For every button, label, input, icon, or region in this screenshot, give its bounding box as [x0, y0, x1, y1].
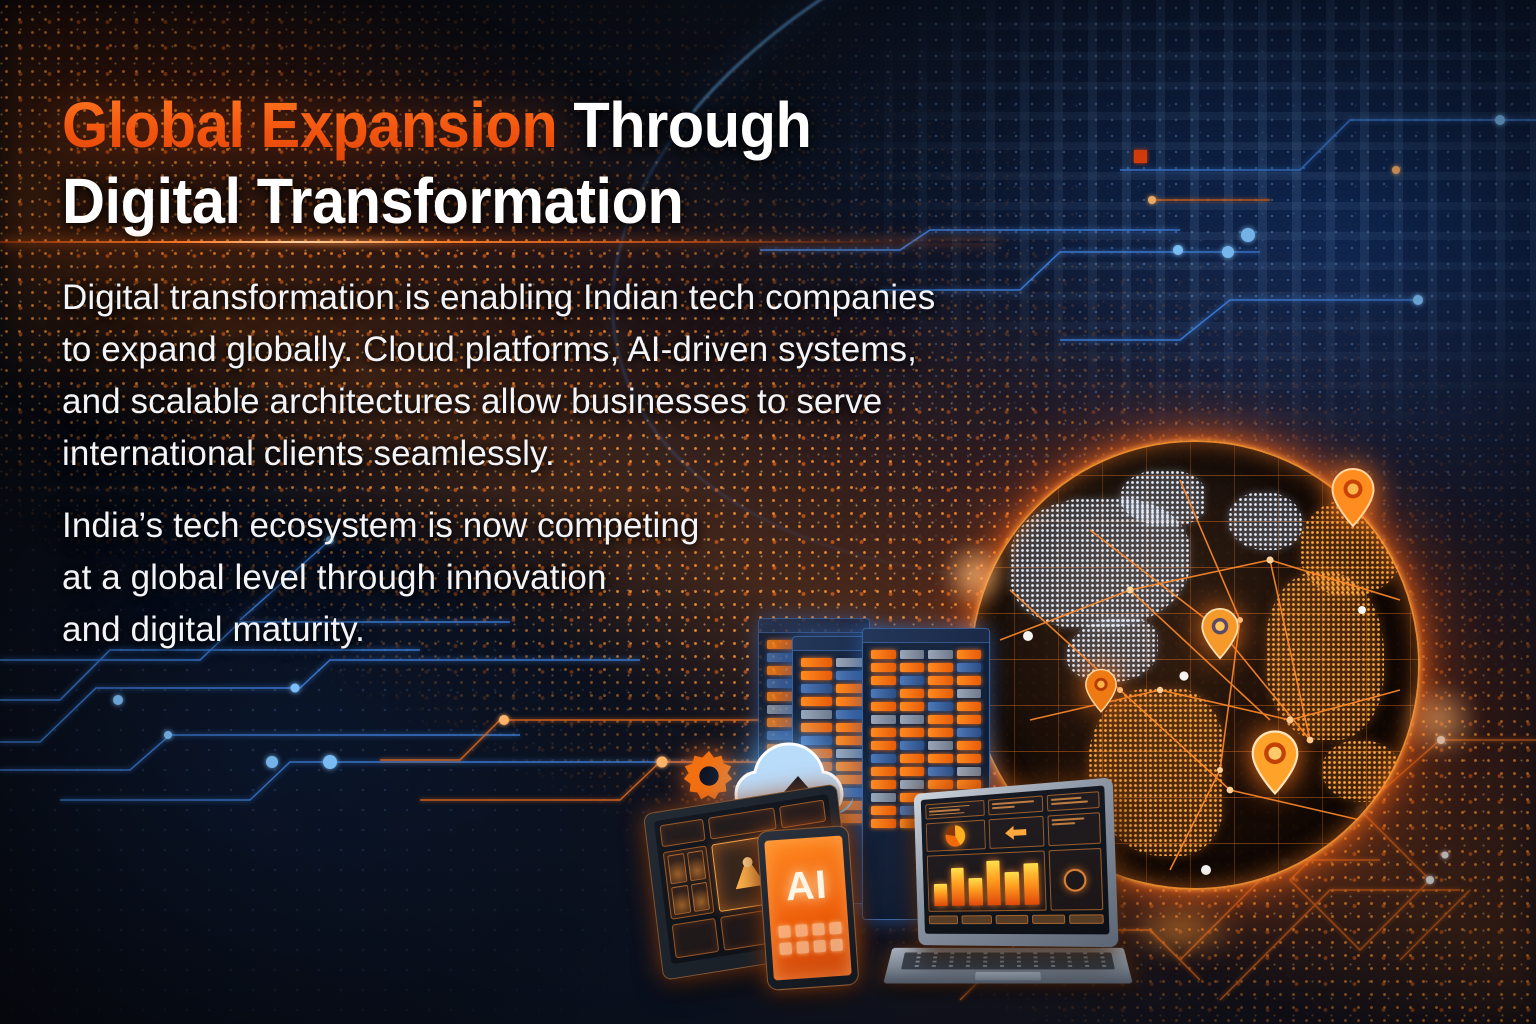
- laptop-gauge-widget: [1048, 848, 1103, 911]
- laptop-lid: [914, 777, 1119, 947]
- body-paragraph-2: India’s tech ecosystem is now competing …: [62, 500, 699, 656]
- laptop-pie-widget: [926, 820, 986, 852]
- headline-line2: Digital Transformation: [62, 163, 973, 239]
- section-divider: [0, 241, 1000, 243]
- location-pin-icon[interactable]: [1330, 468, 1376, 528]
- laptop-dashboard-icon[interactable]: [888, 786, 1128, 994]
- device-cluster: AI: [640, 590, 1110, 1010]
- location-pin-icon[interactable]: [1200, 608, 1240, 660]
- paragraph2-line3: and digital maturity.: [62, 604, 699, 656]
- laptop-arrow-widget: [988, 816, 1044, 849]
- page-title: Global Expansion Through Digital Transfo…: [62, 87, 973, 239]
- laptop-widget-text-b: [988, 795, 1043, 815]
- phone-screen: AI: [764, 835, 852, 980]
- laptop-widget-text-c: [1046, 791, 1099, 811]
- paragraph1-line1: Digital transformation is enabling India…: [62, 272, 935, 324]
- laptop-trackpad[interactable]: [975, 972, 1041, 980]
- bar-5: [1005, 872, 1020, 905]
- paragraph1-line3: and scalable architectures allow busines…: [62, 376, 935, 428]
- laptop-tab-bar[interactable]: [929, 914, 1104, 929]
- bar-6: [1023, 863, 1039, 905]
- paragraph1-line2: to expand globally. Cloud platforms, AI-…: [62, 324, 935, 376]
- headline-rest: Through: [557, 89, 811, 161]
- tablet-widget-header-right: [779, 800, 826, 829]
- laptop-widget-text-a: [925, 800, 984, 820]
- bar-1: [934, 884, 948, 906]
- paragraph2-line2: at a global level through innovation: [62, 552, 699, 604]
- phone-ai-label: AI: [784, 865, 829, 908]
- paragraph1-line4: international clients seamlessly.: [62, 428, 935, 480]
- poster-canvas: Global Expansion Through Digital Transfo…: [0, 0, 1536, 1024]
- tablet-widget-footer-left: [672, 918, 720, 959]
- smartphone-icon[interactable]: AI: [757, 825, 860, 991]
- laptop-screen: [921, 785, 1110, 934]
- laptop-widget-text-d: [1047, 812, 1101, 846]
- laptop-keyboard[interactable]: [901, 952, 1115, 969]
- paragraph2-line1: India’s tech ecosystem is now competing: [62, 500, 699, 552]
- bar-3: [969, 878, 983, 906]
- headline-accent: Global Expansion: [62, 89, 557, 161]
- body-paragraph-1: Digital transformation is enabling India…: [62, 272, 935, 480]
- bar-2: [951, 868, 965, 906]
- tablet-icon-grid-left: [663, 845, 715, 919]
- location-pin-icon[interactable]: [1250, 730, 1300, 796]
- phone-app-grid: [778, 922, 843, 955]
- laptop-base: [883, 948, 1133, 984]
- laptop-bar-chart: [927, 850, 1046, 911]
- bar-4: [986, 861, 1001, 906]
- tablet-widget-header-left: [659, 819, 706, 848]
